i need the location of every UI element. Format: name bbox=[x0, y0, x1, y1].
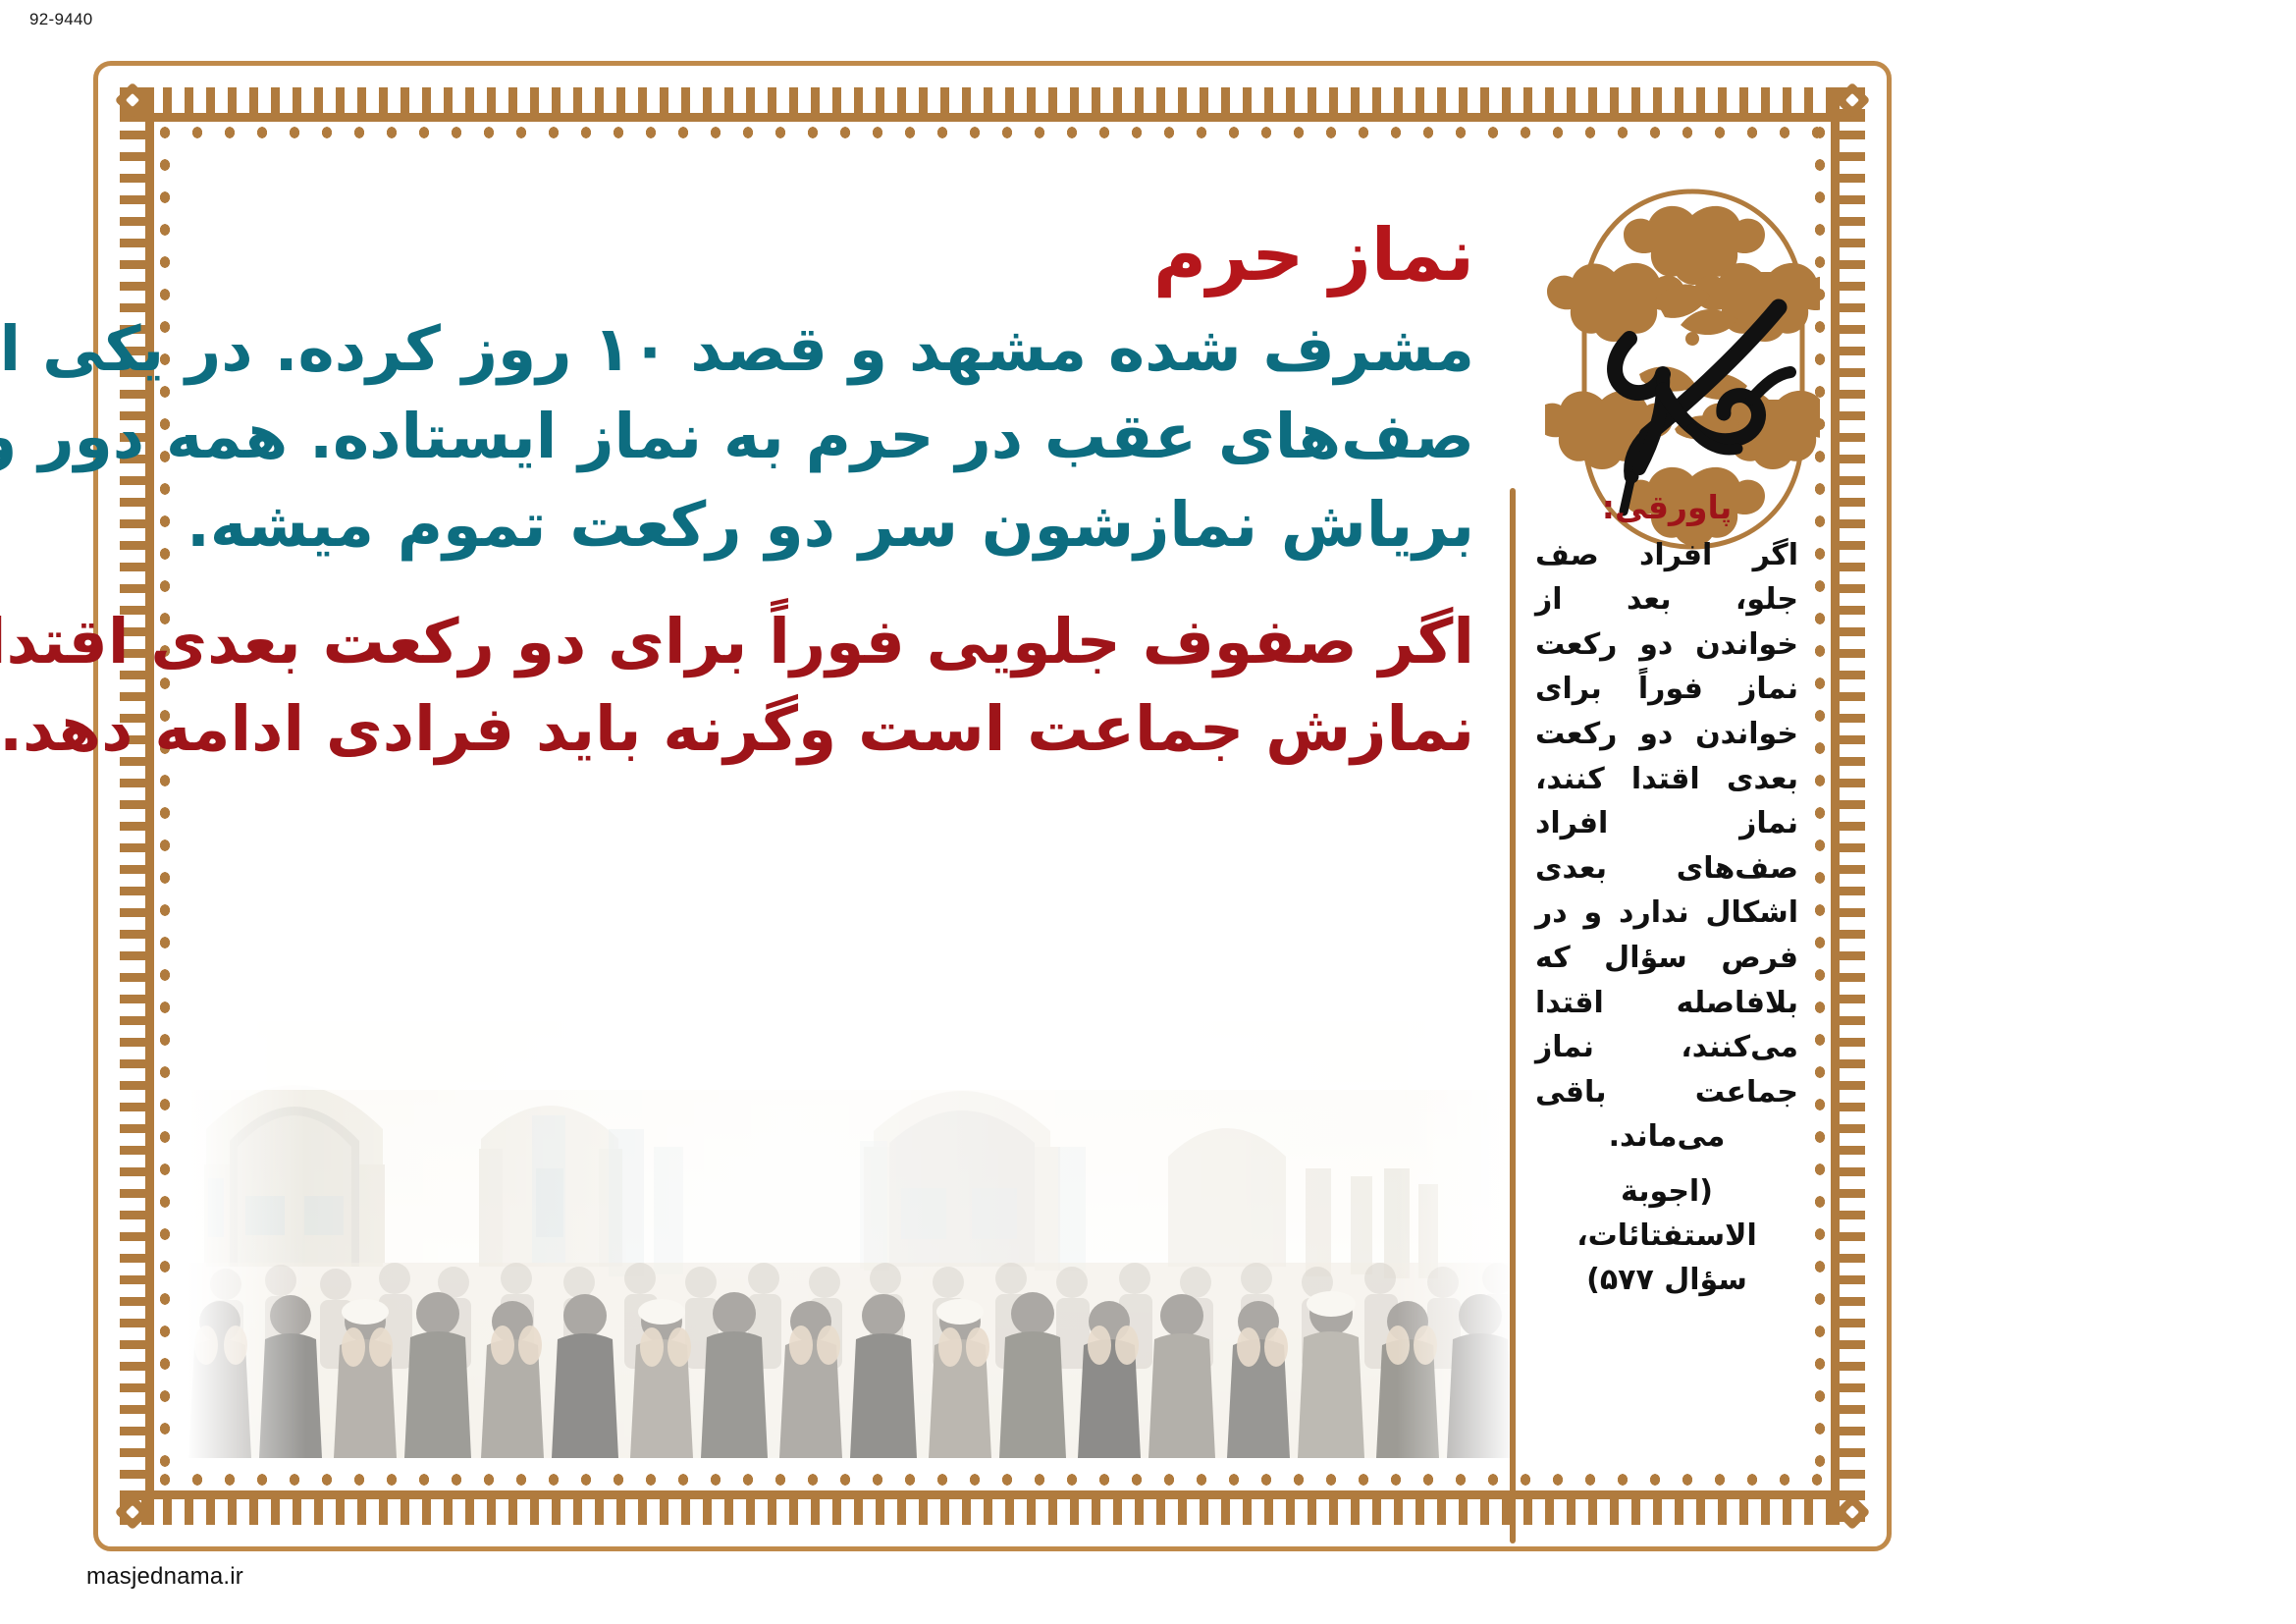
footnote-body: اگر افراد صف جلو، بعد از خواندن دو رکعت … bbox=[1535, 533, 1798, 1160]
body-line-1: مشرف شده مشهد و قصد ۱۰ روز کرده. در یکی … bbox=[187, 308, 1474, 390]
frame-comb-right bbox=[1831, 87, 1865, 1525]
main-text-column: نماز حرم مشرف شده مشهد و قصد ۱۰ روز کرده… bbox=[187, 213, 1474, 776]
frame-comb-top bbox=[120, 87, 1865, 122]
footnote-sidebar: پاورقی: اگر افراد صف جلو، بعد از خواندن … bbox=[1535, 488, 1798, 1302]
frame-comb-bottom bbox=[120, 1490, 1865, 1525]
footnote-divider bbox=[1510, 488, 1516, 1543]
conclusion-line-1: اگر صفوف جلویی فوراً برای دو رکعت بعدی ا… bbox=[187, 601, 1474, 682]
conclusion-line-2: نمازش جماعت است وگرنه باید فرادی ادامه د… bbox=[187, 688, 1474, 770]
conclusion-block: اگر صفوف جلویی فوراً برای دو رکعت بعدی ا… bbox=[187, 601, 1474, 770]
footnote-source-citation: (اجوبة الاستفتائات، سؤال ۵۷۷) bbox=[1535, 1169, 1798, 1302]
poster-frame: نماز حرم مشرف شده مشهد و قصد ۱۰ روز کرده… bbox=[93, 61, 1892, 1551]
poster-content: نماز حرم مشرف شده مشهد و قصد ۱۰ روز کرده… bbox=[187, 154, 1798, 1458]
page-title: نماز حرم bbox=[187, 213, 1474, 298]
frame-dots-top bbox=[157, 125, 1828, 140]
body-line-2: صف‌های عقب در حرم به نماز ایستاده. همه د… bbox=[187, 396, 1474, 477]
site-url: masjednama.ir bbox=[86, 1563, 243, 1591]
footnote-title: پاورقی: bbox=[1535, 488, 1798, 527]
frame-dots-bottom bbox=[157, 1472, 1828, 1488]
body-line-3: بریاش نمازشون سر دو رکعت تموم میشه. bbox=[187, 484, 1474, 566]
frame-comb-left bbox=[120, 87, 154, 1525]
shrine-congregation-photo bbox=[187, 1021, 1517, 1458]
document-code: 92-9440 bbox=[29, 10, 93, 29]
